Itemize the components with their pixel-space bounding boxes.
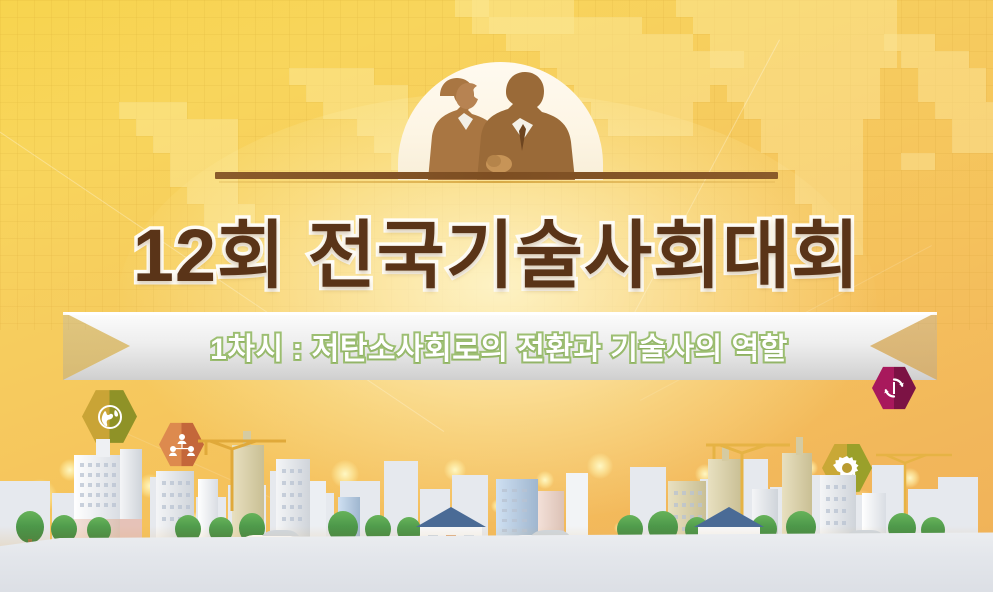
map-block — [901, 51, 969, 68]
title-divider-brown — [215, 172, 778, 179]
businessmen-silhouette-icon — [370, 60, 630, 180]
page-title-text: 12회 전국기술사회대회 — [133, 214, 861, 297]
map-block — [918, 68, 986, 102]
map-block — [136, 119, 238, 136]
map-block — [489, 17, 642, 34]
map-block — [727, 68, 880, 102]
map-block — [455, 0, 489, 17]
map-block — [289, 68, 374, 85]
map-block — [506, 34, 693, 51]
map-block — [884, 34, 935, 51]
recycle-icon — [882, 376, 906, 400]
map-block — [935, 102, 993, 119]
handshake-illustration — [370, 60, 630, 180]
map-block — [952, 119, 993, 153]
map-block — [472, 0, 574, 34]
subtitle-banner-text: 1차시 : 저탄소사회로의 전환과 기술사의 역할 — [63, 312, 935, 379]
map-block — [901, 153, 935, 170]
presentation-slide: 12회 전국기술사회대회 1차시 : 저탄소사회로의 전환과 기술사의 역할 — [0, 0, 993, 592]
map-block — [119, 102, 187, 119]
ground-plane — [0, 530, 993, 592]
map-block — [778, 153, 863, 170]
title-divider-gold — [219, 181, 775, 183]
map-block — [761, 119, 863, 153]
map-block — [693, 17, 897, 34]
map-block — [153, 136, 238, 153]
page-title: 12회 전국기술사회대회 — [0, 196, 993, 303]
map-block — [676, 0, 897, 17]
map-block — [710, 34, 897, 68]
map-block — [744, 102, 880, 119]
